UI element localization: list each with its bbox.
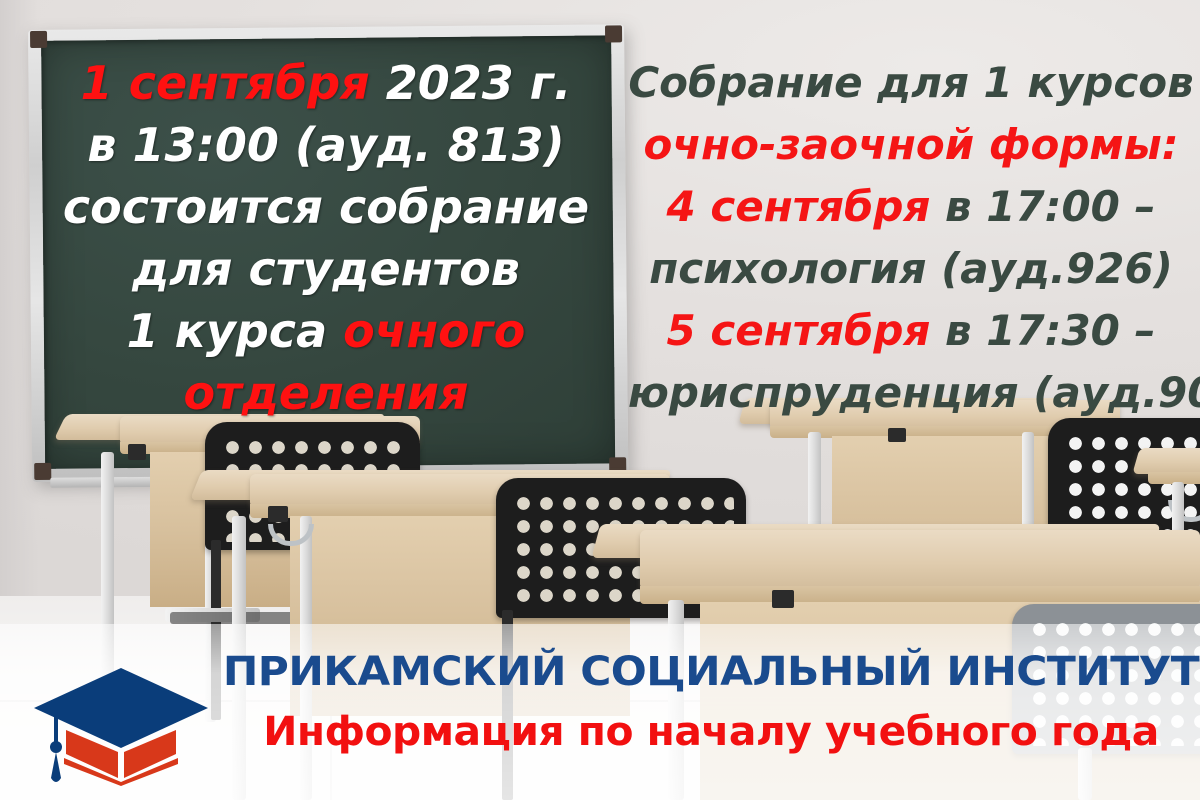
notice-accent: очно-заочной формы: (643, 120, 1178, 169)
notice-accent: 4 сентября (666, 182, 945, 231)
banner-subtitle: Информация по началу учебного года (227, 704, 1196, 760)
notice-accent: 5 сентября (666, 306, 945, 355)
notice-line: Собрание для 1 курсов (628, 52, 1194, 114)
announcement-poster: 1 сентября 2023 г. в 13:00 (ауд. 813) со… (0, 0, 1200, 800)
chalk-accent: отделения (183, 366, 468, 420)
chalk-line: 1 курса очного (46, 300, 606, 362)
notice-line: 4 сентября в 17:00 – (628, 176, 1194, 238)
graduation-cap-book-logo (26, 660, 216, 786)
chalk-line: состоится собрание (46, 176, 606, 238)
notice-line: 5 сентября в 17:30 – (628, 300, 1194, 362)
notice-line: психология (ауд.926) (628, 238, 1194, 300)
desk-top (1132, 448, 1200, 474)
desk-top (640, 530, 1200, 590)
notice-plain: в 17:30 – (945, 306, 1156, 355)
chalk-plain: в 13:00 (ауд. 813) (87, 118, 564, 172)
notice-line: очно-заочной формы: (628, 114, 1194, 176)
desk-foot (772, 590, 794, 608)
banner-text-block: ПРИКАМСКИЙ СОЦИАЛЬНЫЙ ИНСТИТУТ Информаци… (236, 646, 1186, 760)
chalkboard-announcement: 1 сентября 2023 г. в 13:00 (ауд. 813) со… (46, 52, 606, 424)
wall-announcement: Собрание для 1 курсов очно-заочной формы… (628, 52, 1194, 424)
notice-plain: в 17:00 – (945, 182, 1156, 231)
chalk-line: в 13:00 (ауд. 813) (46, 114, 606, 176)
chalk-line: 1 сентября 2023 г. (46, 52, 606, 114)
notice-plain: психология (ауд.926) (649, 244, 1173, 293)
chalkboard-corner (605, 25, 622, 42)
notice-line: юриспруденция (ауд.904) (628, 362, 1194, 424)
chalk-line: для студентов (46, 238, 606, 300)
chalk-plain: для студентов (132, 242, 520, 296)
graduation-cap-icon (26, 660, 216, 786)
chalk-plain: состоится собрание (63, 180, 589, 234)
notice-plain: Собрание для 1 курсов (628, 58, 1193, 107)
chalk-plain: 2023 г. (386, 56, 572, 110)
desk-foot (888, 428, 906, 442)
chalk-plain: 1 курса (127, 304, 343, 358)
chalkboard-corner (34, 463, 51, 480)
notice-plain: юриспруденция (ауд.904) (628, 368, 1200, 417)
chalk-accent: 1 сентября (81, 56, 386, 110)
institution-name: ПРИКАМСКИЙ СОЦИАЛЬНЫЙ ИНСТИТУТ (208, 646, 1200, 698)
desk-foot (268, 506, 288, 522)
chalk-accent: очного (343, 304, 525, 358)
desk-foot (128, 444, 146, 460)
chalkboard-corner (30, 31, 47, 48)
chalk-line: отделения (46, 362, 606, 424)
